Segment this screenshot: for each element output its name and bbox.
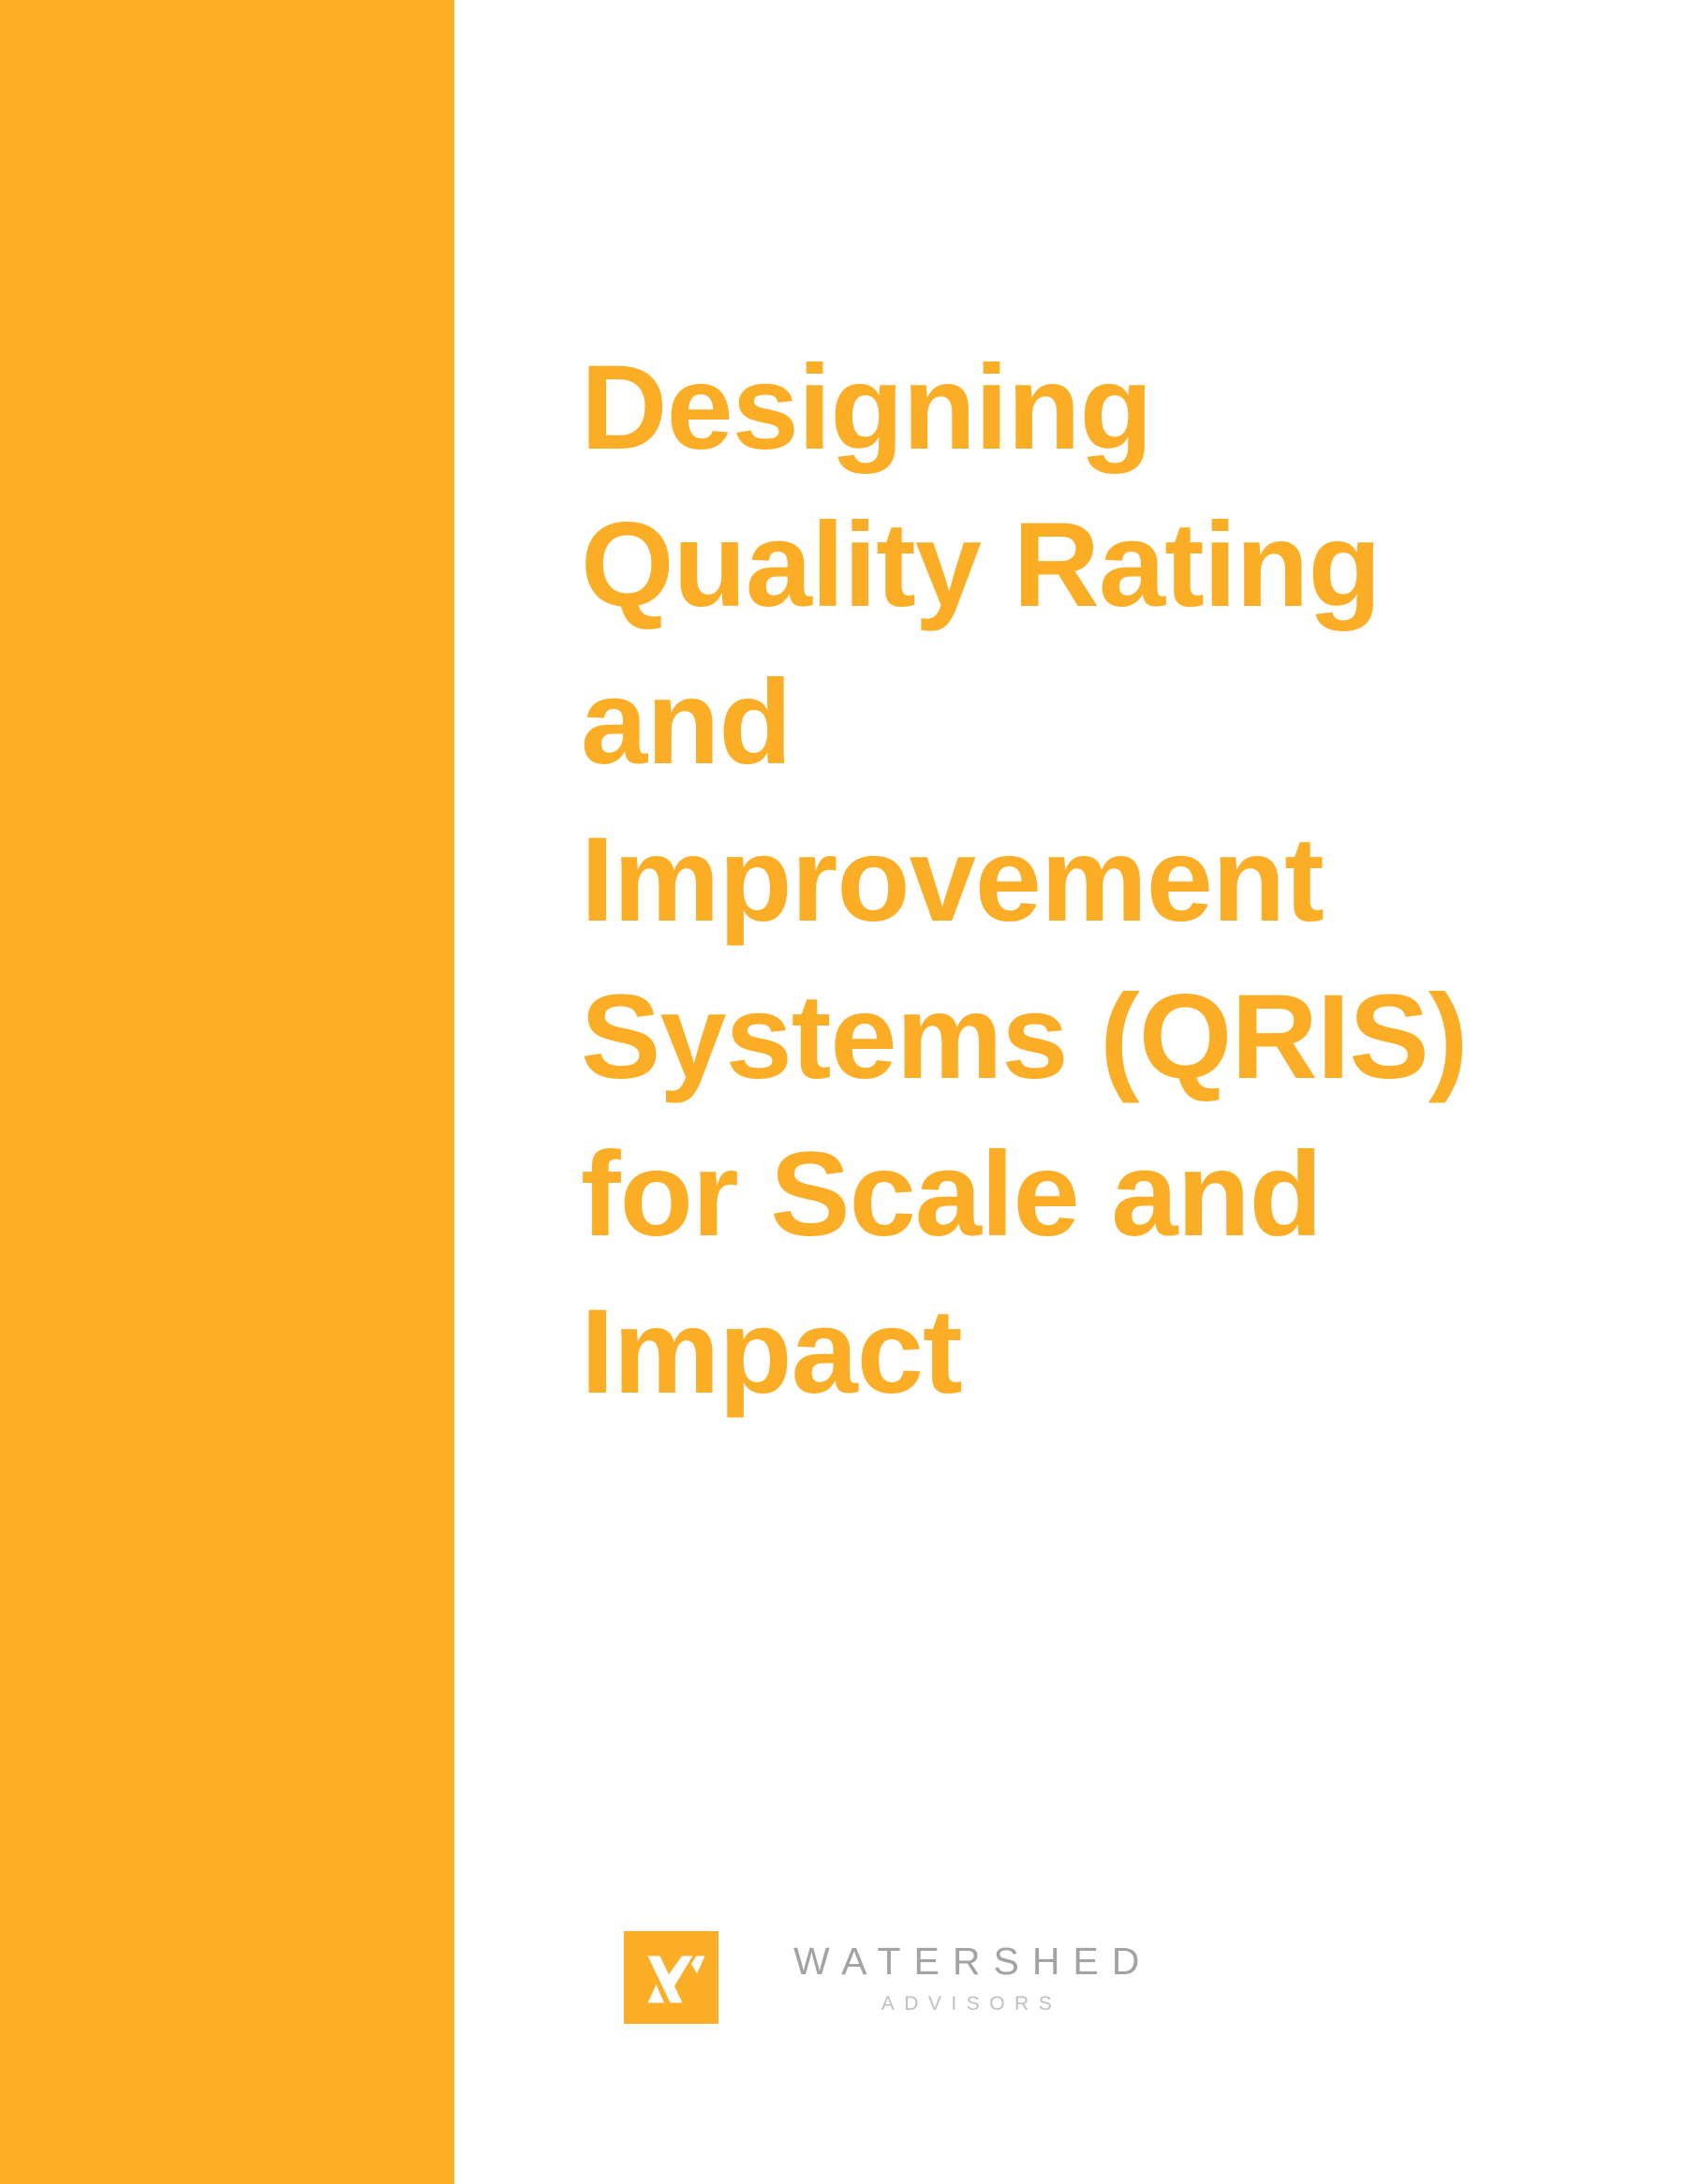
logo-secondary-text: ADVISORS <box>871 1994 1061 2014</box>
watershed-w-monogram-icon <box>624 1931 718 2024</box>
cover-page: Designing Quality Rating and Improvement… <box>0 0 1688 2184</box>
watershed-advisors-logo: WATERSHED ADVISORS <box>624 1931 1152 2024</box>
logo-primary-text: WATERSHED <box>780 1942 1152 1981</box>
left-accent-band <box>0 0 454 2184</box>
page-title: Designing Quality Rating and Improvement… <box>581 330 1527 1431</box>
logo-wordmark: WATERSHED ADVISORS <box>780 1942 1152 2014</box>
cover-title-block: Designing Quality Rating and Improvement… <box>581 330 1527 1431</box>
